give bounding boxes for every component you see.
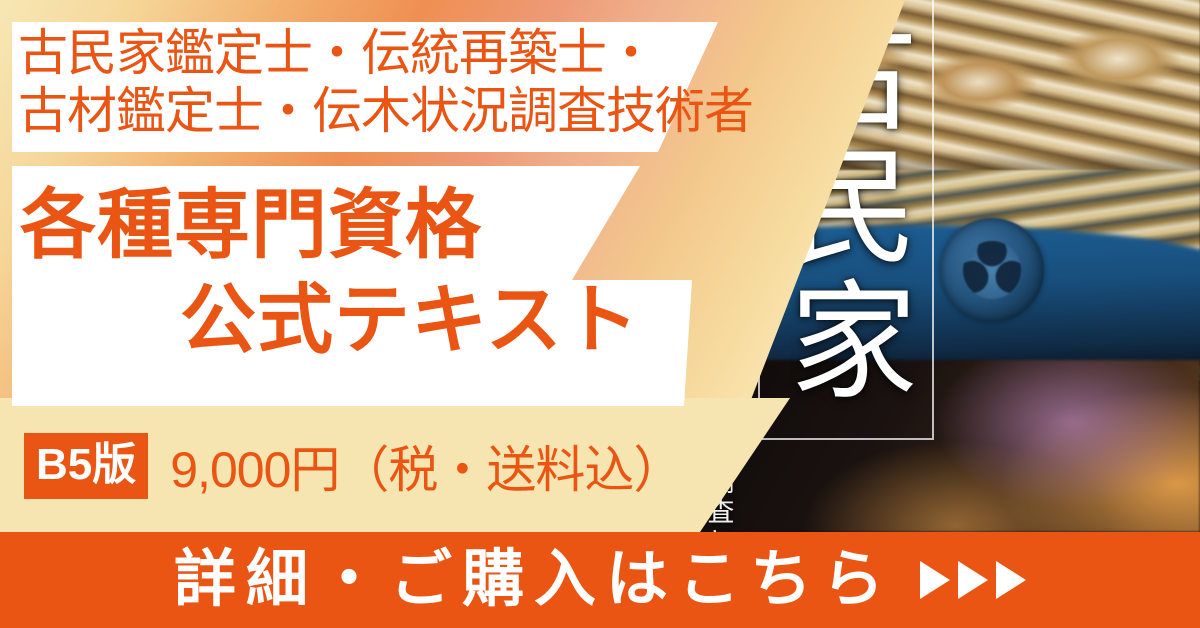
- cta-arrows: [920, 561, 1026, 599]
- page-title: 各種専門資格 公式テキスト: [20, 178, 640, 368]
- chevron-right-icon: [920, 561, 950, 599]
- headline-line-1: 各種専門資格: [20, 178, 640, 273]
- promo-banner: 伝統構法 古民家活用のための調査と再生の 古民家 古民家鑑定士・伝統再築士・ 古…: [0, 0, 1200, 628]
- certifications-text: 古民家鑑定士・伝統再築士・ 古材鑑定士・伝木状況調査技術者: [18, 24, 753, 140]
- certification-line-2: 古材鑑定士・伝木状況調査技術者: [18, 82, 753, 140]
- chevron-right-icon: [996, 561, 1026, 599]
- price-text: 9,000円（税・送料込）: [170, 430, 682, 502]
- price-row: B5版 9,000円（税・送料込）: [24, 430, 682, 502]
- size-badge: B5版: [24, 433, 148, 499]
- certification-line-1: 古民家鑑定士・伝統再築士・: [18, 24, 753, 82]
- headline-line-2: 公式テキスト: [20, 273, 640, 368]
- cta-label: 詳細・ご購入はこちら: [174, 549, 894, 611]
- chevron-right-icon: [958, 561, 988, 599]
- cta-button[interactable]: 詳細・ご購入はこちら: [0, 532, 1200, 628]
- family-crest-tile-icon: [940, 218, 1044, 322]
